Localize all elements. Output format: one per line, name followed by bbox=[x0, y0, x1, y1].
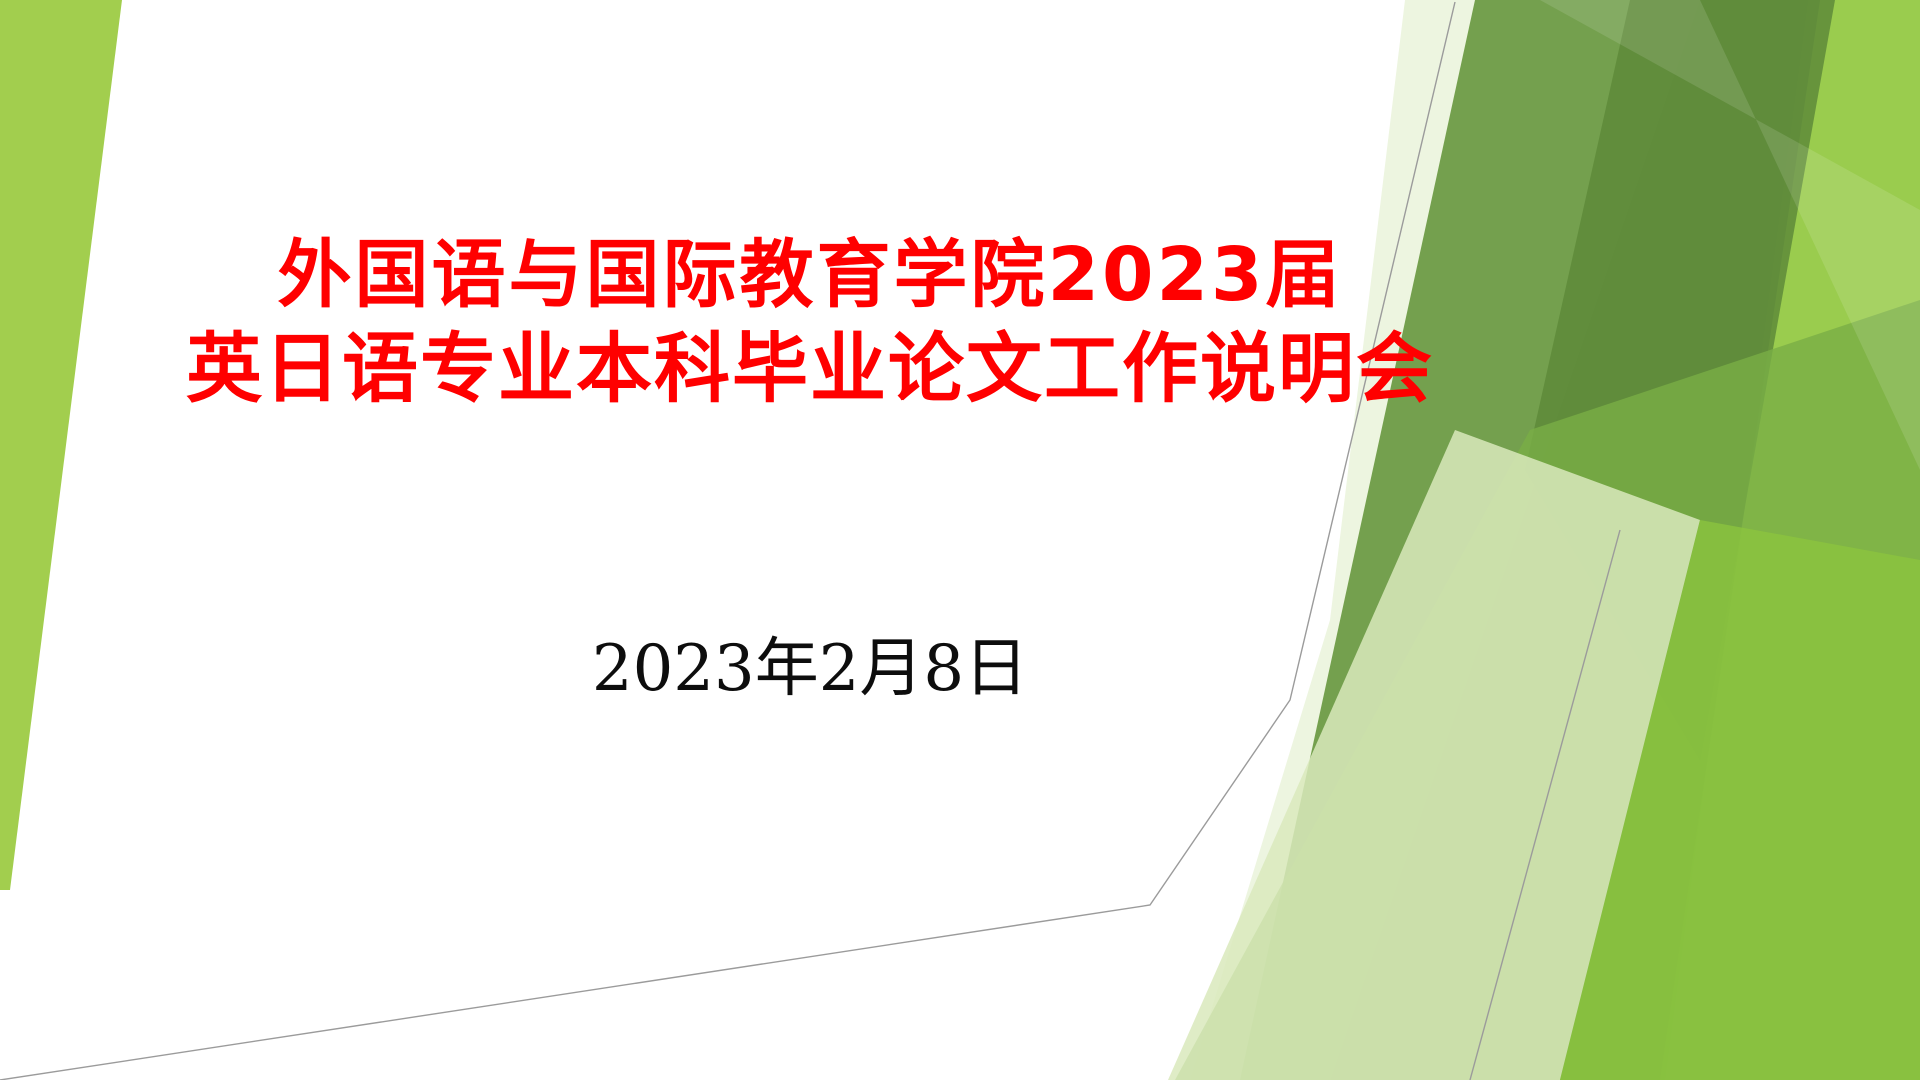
slide-subtitle: 2023年2月8日 bbox=[60, 630, 1560, 708]
slide-title: 外国语与国际教育学院2023届 英日语专业本科毕业论文工作说明会 bbox=[60, 228, 1560, 416]
slide-content: 外国语与国际教育学院2023届 英日语专业本科毕业论文工作说明会 2023年2月… bbox=[0, 0, 1920, 1080]
presentation-date: 2023年2月8日 bbox=[60, 630, 1560, 708]
title-line-1: 外国语与国际教育学院2023届 bbox=[60, 228, 1560, 322]
title-line-2: 英日语专业本科毕业论文工作说明会 bbox=[60, 322, 1560, 416]
presentation-slide: 外国语与国际教育学院2023届 英日语专业本科毕业论文工作说明会 2023年2月… bbox=[0, 0, 1920, 1080]
